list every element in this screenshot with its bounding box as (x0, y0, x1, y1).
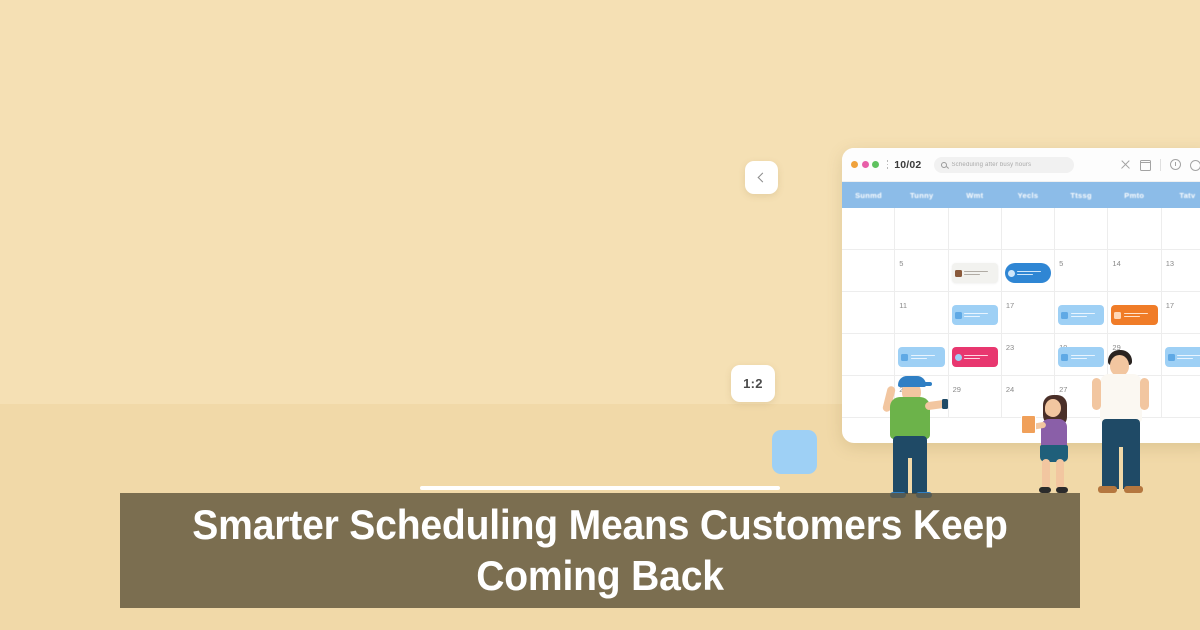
day-number: 14 (1112, 259, 1120, 268)
calendar-day-cell[interactable] (1002, 250, 1055, 291)
calendar-date-label: 10/02 (894, 159, 921, 171)
event-text (1124, 313, 1148, 318)
clipboard-icon (1021, 415, 1036, 434)
event-icon (1061, 312, 1068, 319)
day-number: 29 (953, 385, 961, 394)
window-dot-orange[interactable] (851, 161, 858, 168)
event-icon (1168, 354, 1175, 361)
close-icon[interactable] (1120, 159, 1131, 170)
event-text (1177, 355, 1200, 360)
calendar-day-cell[interactable] (842, 292, 895, 333)
calendar-day-cell[interactable]: 23 (1002, 334, 1055, 375)
person-white-shirt (1090, 345, 1152, 499)
event-icon (1114, 312, 1121, 319)
circle-icon[interactable] (1190, 160, 1200, 171)
event-text (1017, 271, 1041, 276)
calendar-day-cell[interactable] (1162, 208, 1200, 249)
event-icon (955, 270, 962, 277)
event-text (964, 355, 988, 360)
event-text (911, 355, 935, 360)
phone-icon (942, 399, 948, 409)
calendar-event-chip[interactable] (952, 347, 998, 367)
weekday-label: Wmt (948, 182, 1001, 208)
weekday-label: Pmto (1108, 182, 1161, 208)
calendar-day-cell[interactable] (1055, 292, 1108, 333)
calendar-icon[interactable] (1140, 160, 1151, 171)
calendar-day-cell[interactable] (895, 208, 948, 249)
time-chip-label: 1:2 (743, 376, 763, 391)
calendar-day-cell[interactable] (1162, 376, 1200, 417)
calendar-event-chip[interactable] (898, 347, 944, 367)
calendar-event-chip[interactable] (1005, 263, 1051, 283)
calendar-day-cell[interactable]: 13 (1162, 250, 1200, 291)
calendar-day-cell[interactable] (1055, 208, 1108, 249)
calendar-day-cell[interactable] (949, 334, 1002, 375)
poster-canvas: 1:2 10/02 Scheduling after busy hours (0, 0, 1200, 630)
time-chip[interactable]: 1:2 (731, 365, 775, 402)
day-number: 5 (1059, 259, 1063, 268)
day-number: 5 (899, 259, 903, 268)
prev-button[interactable] (745, 161, 778, 194)
blue-accent-square (772, 430, 817, 474)
page-title: Smarter Scheduling Means Customers Keep … (167, 500, 1034, 601)
event-icon (955, 312, 962, 319)
event-icon (955, 354, 962, 361)
calendar-week-row: 551413 (842, 250, 1200, 292)
calendar-event-chip[interactable] (952, 305, 998, 325)
calendar-day-cell[interactable] (1108, 292, 1161, 333)
day-number: 17 (1006, 301, 1014, 310)
kebab-menu-icon[interactable] (887, 160, 889, 169)
window-dot-pink[interactable] (862, 161, 869, 168)
title-banner: Smarter Scheduling Means Customers Keep … (120, 493, 1080, 608)
calendar-event-chip[interactable] (952, 263, 998, 283)
day-number: 17 (1166, 301, 1174, 310)
title-divider (420, 486, 780, 490)
event-icon (901, 354, 908, 361)
calendar-day-cell[interactable] (1162, 334, 1200, 375)
day-number: 13 (1166, 259, 1174, 268)
event-text (964, 313, 988, 318)
calendar-event-chip[interactable] (1111, 305, 1157, 325)
calendar-toolbar (1120, 159, 1200, 171)
calendar-event-chip[interactable] (1165, 347, 1200, 367)
event-text (1071, 313, 1095, 318)
calendar-day-cell[interactable]: 11 (895, 292, 948, 333)
calendar-day-cell[interactable]: 29 (949, 376, 1002, 417)
weekday-label: Sunmd (842, 182, 895, 208)
calendar-day-cell[interactable] (949, 250, 1002, 291)
weekday-label: Tatv (1161, 182, 1200, 208)
event-icon (1008, 270, 1015, 277)
calendar-week-row (842, 208, 1200, 250)
person-purple-top (1030, 393, 1080, 499)
calendar-day-cell[interactable]: 17 (1162, 292, 1200, 333)
chevron-left-icon (758, 173, 768, 183)
weekday-label: Yecls (1001, 182, 1054, 208)
weekday-header: Sunmd Tunny Wmt Yecls Ttssg Pmto Tatv (842, 182, 1200, 208)
calendar-titlebar: 10/02 Scheduling after busy hours (842, 148, 1200, 182)
weekday-label: Tunny (895, 182, 948, 208)
calendar-day-cell[interactable] (949, 292, 1002, 333)
search-input[interactable]: Scheduling after busy hours (934, 157, 1074, 173)
calendar-day-cell[interactable]: 5 (1055, 250, 1108, 291)
calendar-day-cell[interactable]: 14 (1108, 250, 1161, 291)
calendar-day-cell[interactable] (842, 208, 895, 249)
day-number: 11 (899, 301, 907, 310)
event-icon (1061, 354, 1068, 361)
calendar-day-cell[interactable] (949, 208, 1002, 249)
weekday-label: Ttssg (1055, 182, 1108, 208)
window-dot-green[interactable] (872, 161, 879, 168)
toolbar-divider (1160, 159, 1161, 171)
search-icon (941, 162, 947, 168)
day-number: 23 (1006, 343, 1014, 352)
calendar-day-cell[interactable] (1002, 208, 1055, 249)
person-green-shirt (880, 368, 946, 499)
search-placeholder-text: Scheduling after busy hours (951, 162, 1031, 168)
calendar-day-cell[interactable]: 5 (895, 250, 948, 291)
calendar-day-cell[interactable]: 17 (1002, 292, 1055, 333)
event-text (964, 271, 988, 276)
calendar-week-row: 111717 (842, 292, 1200, 334)
calendar-day-cell[interactable] (1108, 208, 1161, 249)
calendar-day-cell[interactable] (842, 250, 895, 291)
day-number: 24 (1006, 385, 1014, 394)
cap-icon (898, 376, 926, 387)
clock-icon[interactable] (1170, 159, 1181, 170)
calendar-event-chip[interactable] (1058, 305, 1104, 325)
